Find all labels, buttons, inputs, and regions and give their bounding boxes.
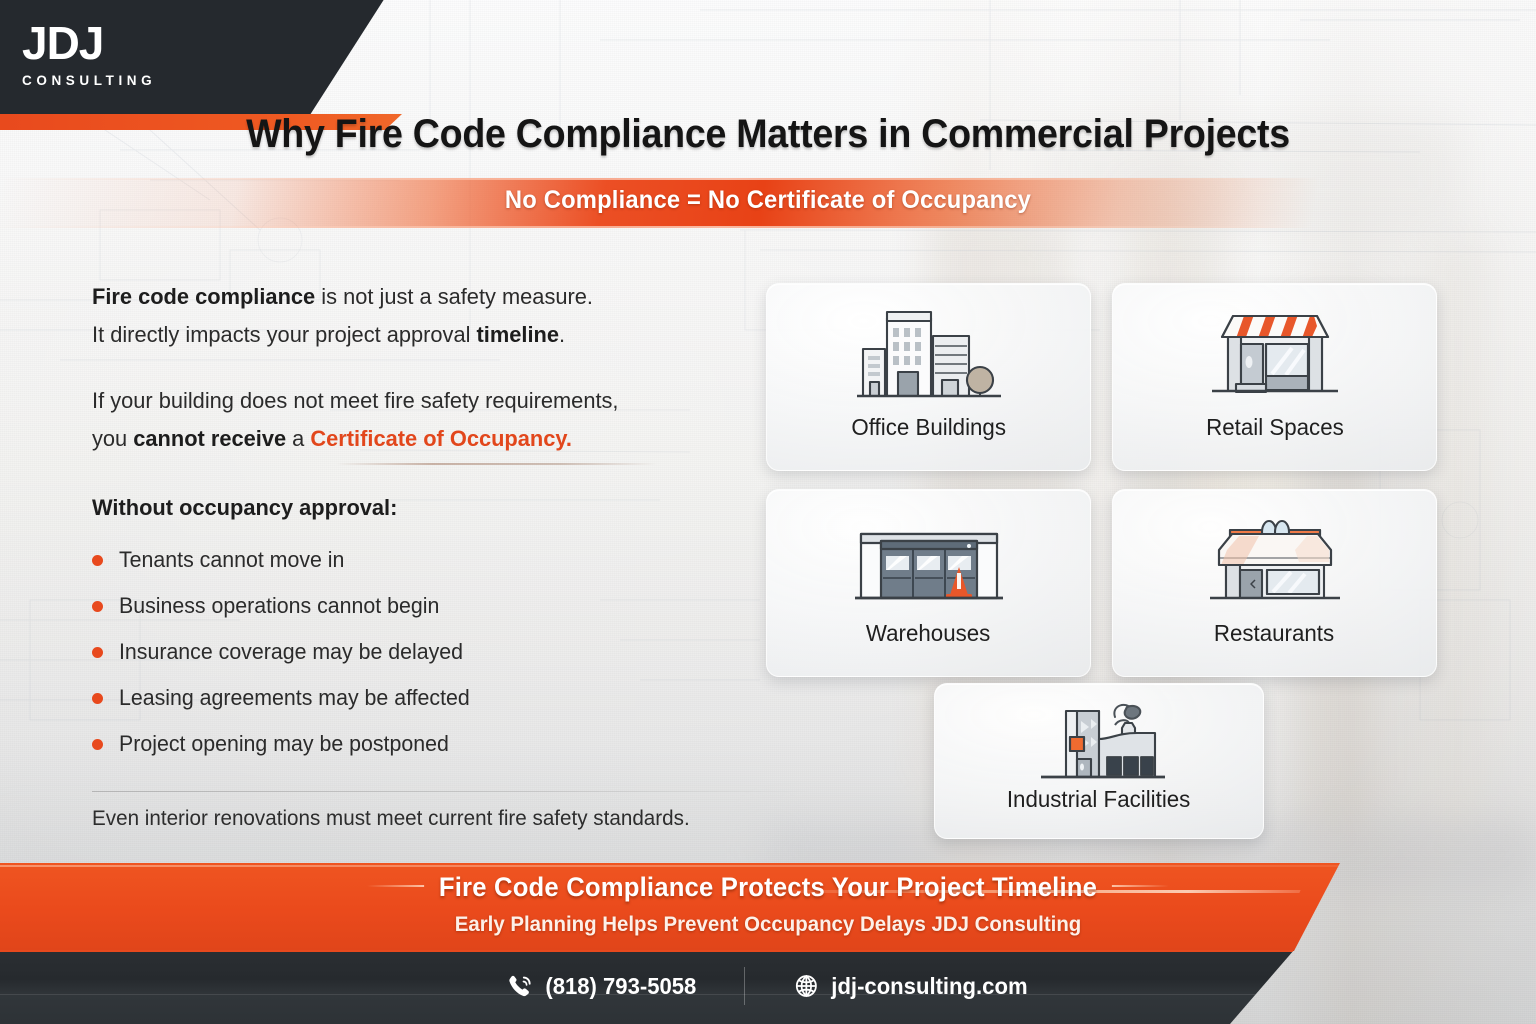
card-warehouses[interactable]: Warehouses [766, 489, 1091, 677]
logo-wordmark: JDJ [22, 20, 156, 66]
card-office-buildings[interactable]: Office Buildings [766, 283, 1091, 471]
dash-left-decoration [367, 885, 424, 887]
page-title: Why Fire Code Compliance Matters in Comm… [46, 112, 1490, 157]
card-label: Restaurants [1214, 620, 1334, 647]
bullet-dot-icon [92, 739, 103, 750]
list-item-label: Business operations cannot begin [119, 583, 439, 629]
bullet-dot-icon [92, 601, 103, 612]
requirement-paragraph: If your building does not meet fire safe… [92, 382, 732, 458]
intro-rest: is not just a safety measure. [315, 284, 593, 309]
list-item-label: Project opening may be postponed [119, 721, 449, 767]
card-label: Warehouses [866, 620, 990, 647]
logo: JDJ CONSULTING [22, 20, 156, 88]
subtitle-text: No Compliance = No Certificate of Occupa… [38, 186, 1497, 215]
list-item-label: Tenants cannot move in [119, 537, 344, 583]
intro-line2-end: . [559, 322, 565, 347]
card-industrial-facilities[interactable]: Industrial Facilities [934, 683, 1264, 839]
req-bold: cannot receive [133, 426, 286, 451]
card-retail-spaces[interactable]: Retail Spaces [1112, 283, 1437, 471]
list-item: Business operations cannot begin [92, 583, 752, 629]
list-item-label: Insurance coverage may be delayed [119, 629, 463, 675]
contact-row: (818) 793-5058 jdj-consulting.com [0, 950, 1536, 1024]
req-lead: you [92, 426, 133, 451]
footer-headline: Fire Code Compliance Protects Your Proje… [439, 872, 1097, 902]
left-content-column: Fire code compliance is not just a safet… [92, 278, 752, 831]
website-contact[interactable]: jdj-consulting.com [794, 973, 1028, 1000]
list-item: Leasing agreements may be affected [92, 675, 752, 721]
closing-note: Even interior renovations must meet curr… [92, 806, 726, 831]
intro-line2-bold: timeline [477, 322, 559, 347]
consequences-heading: Without occupancy approval: [92, 495, 732, 521]
restaurant-fork-spoon-icon [1199, 506, 1351, 618]
intro-paragraph: Fire code compliance is not just a safet… [92, 278, 732, 354]
globe-icon [794, 973, 819, 999]
dash-right-decoration [1112, 885, 1169, 887]
list-item-label: Leasing agreements may be affected [119, 675, 470, 721]
phone-contact[interactable]: (818) 793-5058 [507, 973, 696, 1000]
closing-divider [92, 791, 814, 792]
list-item: Tenants cannot move in [92, 537, 752, 583]
list-item: Project opening may be postponed [92, 721, 752, 767]
card-restaurants[interactable]: Restaurants [1112, 489, 1437, 677]
requirement-line2: you cannot receive a Certificate of Occu… [92, 420, 732, 458]
intro-line2-lead: It directly impacts your project approva… [92, 322, 477, 347]
footer-headline-row: Fire Code Compliance Protects Your Proje… [38, 872, 1497, 903]
office-building-icon [854, 300, 1004, 412]
card-label: Office Buildings [851, 414, 1006, 441]
contact-divider [744, 967, 745, 1005]
logo-tagline: CONSULTING [22, 73, 156, 88]
infographic-page: JDJ CONSULTING Why Fire Code Compliance … [0, 0, 1536, 1024]
factory-smokestack-icon [1019, 692, 1179, 784]
card-label: Retail Spaces [1206, 414, 1344, 441]
storefront-awning-icon [1200, 300, 1350, 412]
phone-ringing-icon [507, 973, 533, 1000]
bullet-dot-icon [92, 647, 103, 658]
certificate-of-occupancy-highlight: Certificate of Occupancy. [310, 426, 572, 451]
requirement-line1: If your building does not meet fire safe… [92, 382, 732, 420]
list-item: Insurance coverage may be delayed [92, 629, 752, 675]
footer-subline: Early Planning Helps Prevent Occupancy D… [38, 912, 1497, 937]
warehouse-rolling-door-icon [851, 506, 1007, 618]
card-label: Industrial Facilities [1007, 786, 1191, 813]
bullet-dot-icon [92, 693, 103, 704]
intro-bold-lead: Fire code compliance [92, 284, 315, 309]
website-url: jdj-consulting.com [832, 973, 1028, 1000]
req-mid: a [286, 426, 310, 451]
consequences-list: Tenants cannot move in Business operatio… [92, 537, 752, 767]
phone-number: (818) 793-5058 [545, 973, 696, 1000]
bullet-dot-icon [92, 555, 103, 566]
